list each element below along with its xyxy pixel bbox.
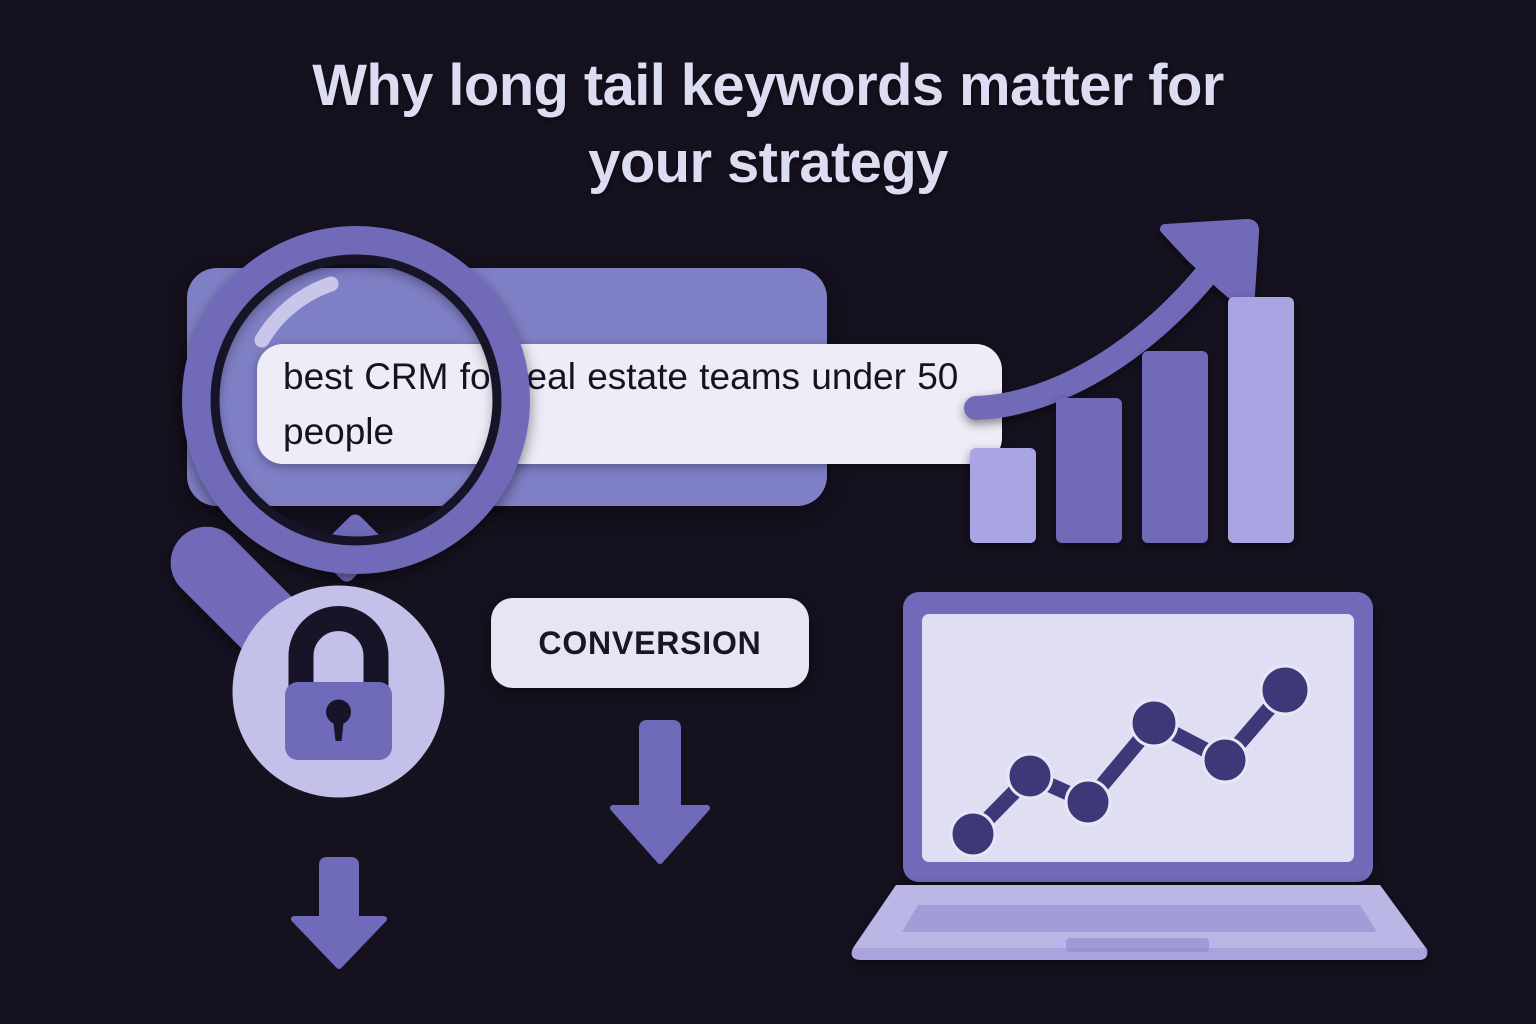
laptop-trackpad	[1066, 938, 1209, 952]
arrow-down-icon	[605, 718, 715, 866]
bar-1	[970, 448, 1036, 543]
growth-bar-chart	[950, 205, 1310, 555]
bar-3	[1142, 351, 1208, 543]
conversion-badge[interactable]: CONVERSION	[491, 598, 809, 688]
search-bar[interactable]: best CRM for real estate teams under 50 …	[187, 268, 827, 506]
laptop-keyboard	[902, 905, 1377, 932]
search-input[interactable]: best CRM for real estate teams under 50 …	[257, 344, 1002, 464]
laptop-with-line-chart	[840, 580, 1440, 980]
arrow-down-icon	[286, 856, 392, 970]
page-title-line-2: your strategy	[0, 125, 1536, 202]
curved-arrow-up-icon	[976, 224, 1254, 408]
page-title-line-1: Why long tail keywords matter for	[0, 48, 1536, 125]
lock-icon	[231, 584, 446, 799]
page-title: Why long tail keywords matter for your s…	[0, 48, 1536, 201]
search-query-text: best CRM for real estate teams under 50 …	[257, 349, 1002, 460]
conversion-badge-label: CONVERSION	[538, 625, 761, 662]
laptop-base	[852, 885, 1428, 960]
bar-4	[1228, 297, 1294, 543]
illustration-canvas: Why long tail keywords matter for your s…	[0, 0, 1536, 1024]
bar-2	[1056, 398, 1122, 543]
